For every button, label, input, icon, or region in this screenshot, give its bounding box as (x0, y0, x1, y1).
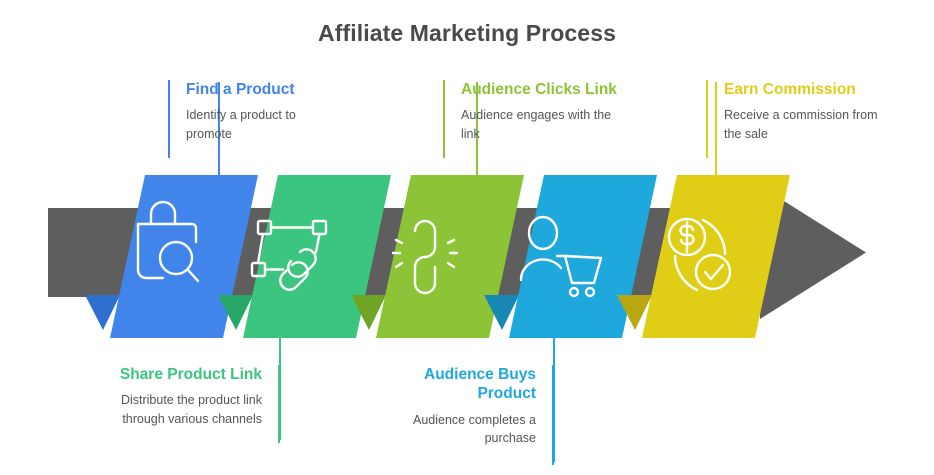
callout-body-5: Receive a commission from the sale (724, 106, 896, 142)
callout-body-1: Identify a product to promote (186, 106, 318, 142)
callout-body-4: Audience completes a purchase (398, 411, 536, 447)
callout-step-2: Share Product Link Distribute the produc… (108, 365, 280, 428)
callout-heading-1: Find a Product (186, 80, 318, 99)
callout-heading-4: Audience Buys Product (398, 365, 536, 404)
callout-rule-5 (706, 80, 708, 158)
callout-rule-3 (443, 80, 445, 158)
callout-step-5: Earn Commission Receive a commission fro… (706, 80, 896, 143)
callout-rule-2 (278, 365, 280, 443)
callout-heading-5: Earn Commission (724, 80, 896, 99)
affiliate-marketing-infographic: Affiliate Marketing Process (0, 0, 934, 475)
callout-heading-2: Share Product Link (108, 365, 262, 384)
callout-step-3: Audience Clicks Link Audience engages wi… (443, 80, 621, 143)
callout-rule-1 (168, 80, 170, 158)
callout-rule-4 (552, 365, 554, 465)
callout-step-4: Audience Buys Product Audience completes… (398, 365, 554, 447)
callout-body-3: Audience engages with the link (461, 106, 621, 142)
callout-body-2: Distribute the product link through vari… (108, 391, 262, 427)
callout-heading-3: Audience Clicks Link (461, 80, 621, 99)
callout-step-1: Find a Product Identify a product to pro… (168, 80, 318, 143)
